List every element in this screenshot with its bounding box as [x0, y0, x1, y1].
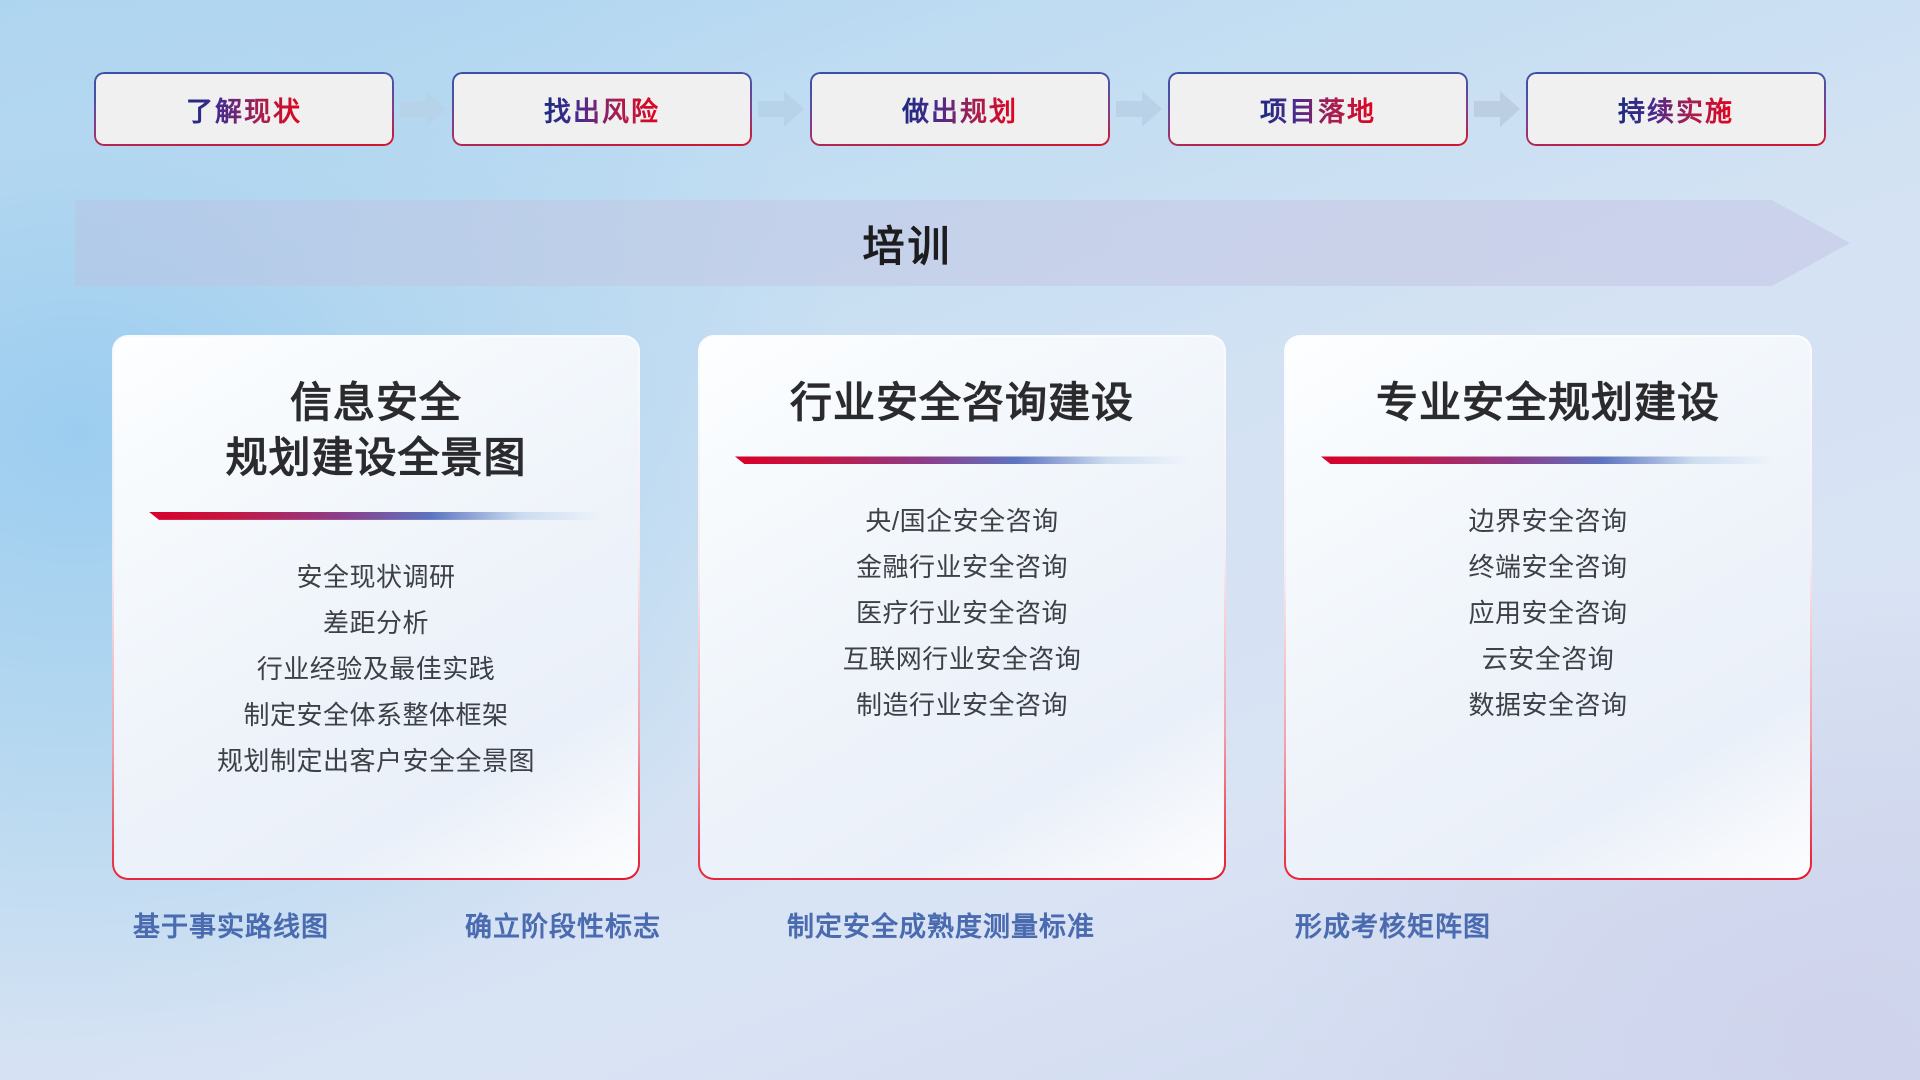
card-title: 信息安全 规划建设全景图 — [209, 375, 542, 486]
list-item: 边界安全咨询 — [1286, 498, 1810, 544]
card-divider — [735, 456, 1189, 464]
step-label: 持续实施 — [1618, 90, 1734, 129]
card-inner: 行业安全咨询建设 央/国企安全咨询 金融行业安全咨询 医疗行业安全咨询 互联网行… — [700, 337, 1224, 878]
list-item: 终端安全咨询 — [1286, 544, 1810, 590]
right-arrow-icon — [752, 87, 810, 131]
card-title: 专业安全规划建设 — [1360, 375, 1736, 430]
card-inner: 信息安全 规划建设全景图 安全现状调研 差距分析 行业经验及最佳实践 制定安全体… — [114, 337, 638, 878]
card-title-line1: 行业安全咨询建设 — [790, 379, 1134, 426]
list-item: 规划制定出客户安全全景图 — [114, 738, 638, 784]
card-information-security[interactable]: 信息安全 规划建设全景图 安全现状调研 差距分析 行业经验及最佳实践 制定安全体… — [112, 335, 640, 880]
card-item-list: 央/国企安全咨询 金融行业安全咨询 医疗行业安全咨询 互联网行业安全咨询 制造行… — [700, 498, 1224, 728]
list-item: 行业经验及最佳实践 — [114, 646, 638, 692]
card-title-line1: 专业安全规划建设 — [1376, 379, 1720, 426]
footer-labels-row: 基于事实路线图 确立阶段性标志 制定安全成熟度测量标准 形成考核矩阵图 — [0, 905, 1920, 965]
step-label: 做出规划 — [902, 90, 1018, 129]
training-banner: 培训 — [75, 200, 1850, 286]
banner-title: 培训 — [75, 200, 1850, 286]
list-item: 互联网行业安全咨询 — [700, 636, 1224, 682]
list-item: 制定安全体系整体框架 — [114, 692, 638, 738]
card-divider — [149, 512, 603, 520]
footer-label-3: 制定安全成熟度测量标准 — [787, 905, 1095, 944]
right-arrow-icon — [394, 87, 452, 131]
process-steps-row: 了解现状 找出风险 做出规划 项目落地 持续实施 — [0, 70, 1920, 148]
card-professional-security-planning[interactable]: 专业安全规划建设 边界安全咨询 终端安全咨询 应用安全咨询 云安全咨询 数据安全… — [1284, 335, 1812, 880]
step-label: 找出风险 — [544, 90, 660, 129]
step-label: 了解现状 — [186, 90, 302, 129]
list-item: 数据安全咨询 — [1286, 682, 1810, 728]
step-box-3[interactable]: 做出规划 — [810, 72, 1110, 146]
card-title-line1: 信息安全 — [290, 379, 462, 426]
card-inner: 专业安全规划建设 边界安全咨询 终端安全咨询 应用安全咨询 云安全咨询 数据安全… — [1286, 337, 1810, 878]
card-item-list: 安全现状调研 差距分析 行业经验及最佳实践 制定安全体系整体框架 规划制定出客户… — [114, 554, 638, 784]
step-box-4[interactable]: 项目落地 — [1168, 72, 1468, 146]
card-title: 行业安全咨询建设 — [774, 375, 1150, 430]
step-box-1[interactable]: 了解现状 — [94, 72, 394, 146]
card-divider — [1321, 456, 1775, 464]
list-item: 应用安全咨询 — [1286, 590, 1810, 636]
list-item: 差距分析 — [114, 600, 638, 646]
footer-label-4: 形成考核矩阵图 — [1295, 905, 1491, 944]
right-arrow-icon — [1110, 87, 1168, 131]
step-box-2[interactable]: 找出风险 — [452, 72, 752, 146]
footer-label-1: 基于事实路线图 — [133, 905, 329, 944]
list-item: 云安全咨询 — [1286, 636, 1810, 682]
step-label: 项目落地 — [1260, 90, 1376, 129]
list-item: 金融行业安全咨询 — [700, 544, 1224, 590]
cards-row: 信息安全 规划建设全景图 安全现状调研 差距分析 行业经验及最佳实践 制定安全体… — [112, 335, 1812, 880]
list-item: 安全现状调研 — [114, 554, 638, 600]
list-item: 医疗行业安全咨询 — [700, 590, 1224, 636]
list-item: 制造行业安全咨询 — [700, 682, 1224, 728]
step-box-5[interactable]: 持续实施 — [1526, 72, 1826, 146]
card-item-list: 边界安全咨询 终端安全咨询 应用安全咨询 云安全咨询 数据安全咨询 — [1286, 498, 1810, 728]
card-industry-security-consulting[interactable]: 行业安全咨询建设 央/国企安全咨询 金融行业安全咨询 医疗行业安全咨询 互联网行… — [698, 335, 1226, 880]
right-arrow-icon — [1468, 87, 1526, 131]
list-item: 央/国企安全咨询 — [700, 498, 1224, 544]
card-title-line2: 规划建设全景图 — [225, 430, 526, 485]
footer-label-2: 确立阶段性标志 — [465, 905, 661, 944]
